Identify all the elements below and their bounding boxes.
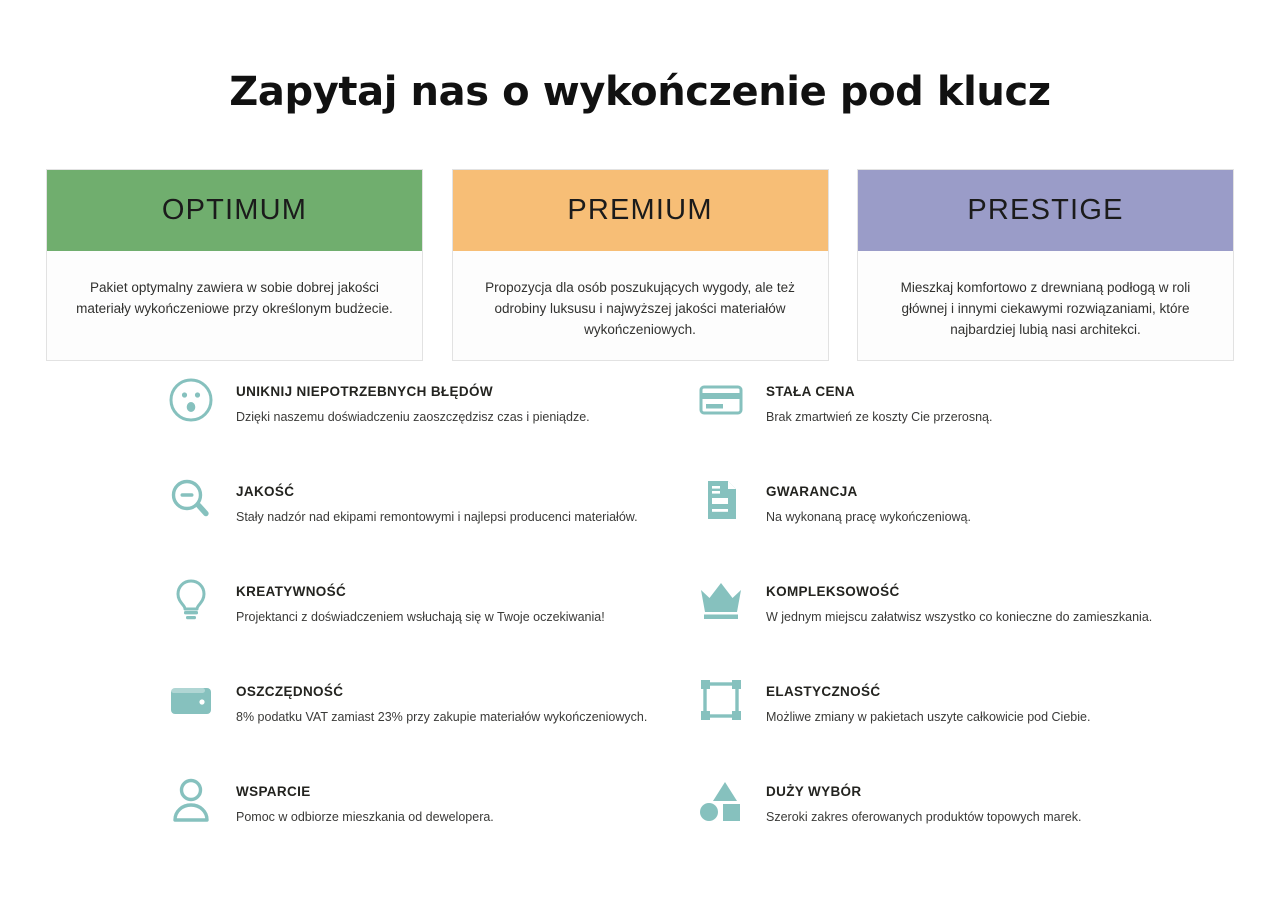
feature-item: OSZCZĘDNOŚĆ 8% podatku VAT zamiast 23% p…: [162, 671, 692, 771]
feature-title: JAKOŚĆ: [236, 483, 638, 500]
package-card-header-optimum: OPTIMUM: [47, 170, 422, 251]
feature-description: Szeroki zakres oferowanych produktów top…: [766, 809, 1081, 826]
package-card-premium[interactable]: PREMIUM Propozycja dla osób poszukującyc…: [452, 169, 829, 361]
magnifier-minus-icon: [162, 471, 220, 529]
feature-title: UNIKNIJ NIEPOTRZEBNYCH BŁĘDÓW: [236, 383, 590, 400]
feature-item: ELASTYCZNOŚĆ Możliwe zmiany w pakietach …: [692, 671, 1162, 771]
feature-item: DUŻY WYBÓR Szeroki zakres oferowanych pr…: [692, 771, 1162, 871]
package-card-body-prestige: Mieszkaj komfortowo z drewnianą podłogą …: [858, 251, 1233, 360]
package-description-premium: Propozycja dla osób poszukujących wygody…: [477, 277, 804, 340]
feature-text: STAŁA CENA Brak zmartwień ze koszty Cie …: [766, 371, 992, 426]
user-person-icon: [162, 771, 220, 829]
feature-description: Stały nadzór nad ekipami remontowymi i n…: [236, 509, 638, 526]
feature-description: Brak zmartwień ze koszty Cie przerosną.: [766, 409, 992, 426]
package-description-prestige: Mieszkaj komfortowo z drewnianą podłogą …: [882, 277, 1209, 340]
package-cards: OPTIMUM Pakiet optymalny zawiera w sobie…: [46, 169, 1234, 361]
package-card-body-premium: Propozycja dla osób poszukujących wygody…: [453, 251, 828, 360]
resize-frame-icon: [692, 671, 750, 729]
feature-item: STAŁA CENA Brak zmartwień ze koszty Cie …: [692, 371, 1162, 471]
feature-title: STAŁA CENA: [766, 383, 992, 400]
surprised-face-icon: [162, 371, 220, 429]
feature-title: DUŻY WYBÓR: [766, 783, 1081, 800]
feature-text: WSPARCIE Pomoc w odbiorze mieszkania od …: [236, 771, 494, 826]
feature-title: KREATYWNOŚĆ: [236, 583, 605, 600]
feature-item: JAKOŚĆ Stały nadzór nad ekipami remontow…: [162, 471, 692, 571]
feature-item: KREATYWNOŚĆ Projektanci z doświadczeniem…: [162, 571, 692, 671]
feature-text: KOMPLEKSOWOŚĆ W jednym miejscu załatwisz…: [766, 571, 1152, 626]
feature-item: UNIKNIJ NIEPOTRZEBNYCH BŁĘDÓW Dzięki nas…: [162, 371, 692, 471]
feature-description: 8% podatku VAT zamiast 23% przy zakupie …: [236, 709, 647, 726]
feature-title: ELASTYCZNOŚĆ: [766, 683, 1090, 700]
feature-title: GWARANCJA: [766, 483, 971, 500]
feature-description: Dzięki naszemu doświadczeniu zaoszczędzi…: [236, 409, 590, 426]
page-title: Zapytaj nas o wykończenie pod klucz: [0, 68, 1280, 116]
lightbulb-icon: [162, 571, 220, 629]
package-description-optimum: Pakiet optymalny zawiera w sobie dobrej …: [71, 277, 398, 319]
feature-title: OSZCZĘDNOŚĆ: [236, 683, 647, 700]
package-card-prestige[interactable]: PRESTIGE Mieszkaj komfortowo z drewnianą…: [857, 169, 1234, 361]
feature-item: WSPARCIE Pomoc w odbiorze mieszkania od …: [162, 771, 692, 871]
package-card-header-premium: PREMIUM: [453, 170, 828, 251]
package-card-body-optimum: Pakiet optymalny zawiera w sobie dobrej …: [47, 251, 422, 360]
shapes-icon: [692, 771, 750, 829]
feature-text: DUŻY WYBÓR Szeroki zakres oferowanych pr…: [766, 771, 1081, 826]
feature-list: UNIKNIJ NIEPOTRZEBNYCH BŁĘDÓW Dzięki nas…: [162, 371, 1162, 871]
feature-text: ELASTYCZNOŚĆ Możliwe zmiany w pakietach …: [766, 671, 1090, 726]
package-card-header-prestige: PRESTIGE: [858, 170, 1233, 251]
feature-title: KOMPLEKSOWOŚĆ: [766, 583, 1152, 600]
feature-text: JAKOŚĆ Stały nadzór nad ekipami remontow…: [236, 471, 638, 526]
feature-text: UNIKNIJ NIEPOTRZEBNYCH BŁĘDÓW Dzięki nas…: [236, 371, 590, 426]
feature-description: Pomoc w odbiorze mieszkania od deweloper…: [236, 809, 494, 826]
feature-text: KREATYWNOŚĆ Projektanci z doświadczeniem…: [236, 571, 605, 626]
crown-icon: [692, 571, 750, 629]
feature-title: WSPARCIE: [236, 783, 494, 800]
feature-text: GWARANCJA Na wykonaną pracę wykończeniow…: [766, 471, 971, 526]
certificate-document-icon: [692, 471, 750, 529]
feature-description: Na wykonaną pracę wykończeniową.: [766, 509, 971, 526]
feature-description: W jednym miejscu załatwisz wszystko co k…: [766, 609, 1152, 626]
feature-text: OSZCZĘDNOŚĆ 8% podatku VAT zamiast 23% p…: [236, 671, 647, 726]
landing-page: Zapytaj nas o wykończenie pod klucz OPTI…: [0, 0, 1280, 919]
credit-card-icon: [692, 371, 750, 429]
feature-description: Możliwe zmiany w pakietach uszyte całkow…: [766, 709, 1090, 726]
feature-item: KOMPLEKSOWOŚĆ W jednym miejscu załatwisz…: [692, 571, 1162, 671]
feature-item: GWARANCJA Na wykonaną pracę wykończeniow…: [692, 471, 1162, 571]
wallet-icon: [162, 671, 220, 729]
package-card-optimum[interactable]: OPTIMUM Pakiet optymalny zawiera w sobie…: [46, 169, 423, 361]
feature-description: Projektanci z doświadczeniem wsłuchają s…: [236, 609, 605, 626]
